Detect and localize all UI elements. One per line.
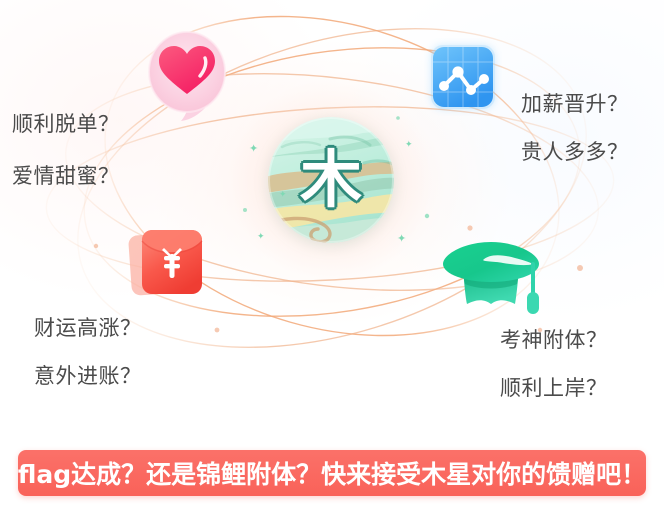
- planet-character: 木: [268, 117, 394, 243]
- sparkle-icon: ✦: [249, 144, 258, 155]
- label-career-line2: 贵人多多？: [521, 136, 629, 166]
- label-money-line2: 意外进账？: [34, 360, 142, 390]
- label-exam-line2: 顺利上岸？: [500, 372, 608, 402]
- line-chart-icon: [424, 38, 502, 116]
- label-love-line1: 顺利脱单？: [12, 108, 120, 138]
- sparkle-icon: ✦: [279, 190, 287, 199]
- cta-banner[interactable]: flag达成？还是锦鲤附体？快来接受木星对你的馈赠吧！: [18, 450, 646, 496]
- graduation-cap-icon: [437, 232, 545, 320]
- sparkle-icon: ✦: [397, 234, 406, 245]
- label-money-line1: 财运高涨？: [34, 312, 142, 342]
- cta-banner-text: flag达成？还是锦鲤附体？快来接受木星对你的馈赠吧！: [18, 455, 646, 491]
- poster-canvas: 木 ✦ ✦ ✦ ✦ ✦: [0, 0, 664, 524]
- label-career-line1: 加薪晋升？: [521, 88, 629, 118]
- label-exam-line1: 考神附体？: [500, 324, 608, 354]
- label-love-line2: 爱情甜蜜？: [12, 160, 120, 190]
- heart-bubble-icon: [143, 30, 231, 122]
- planet-group: 木 ✦ ✦ ✦ ✦ ✦: [255, 104, 407, 256]
- sparkle-icon: ✦: [405, 140, 413, 149]
- sparkle-icon: ✦: [257, 232, 265, 241]
- red-envelope-icon: [128, 226, 208, 300]
